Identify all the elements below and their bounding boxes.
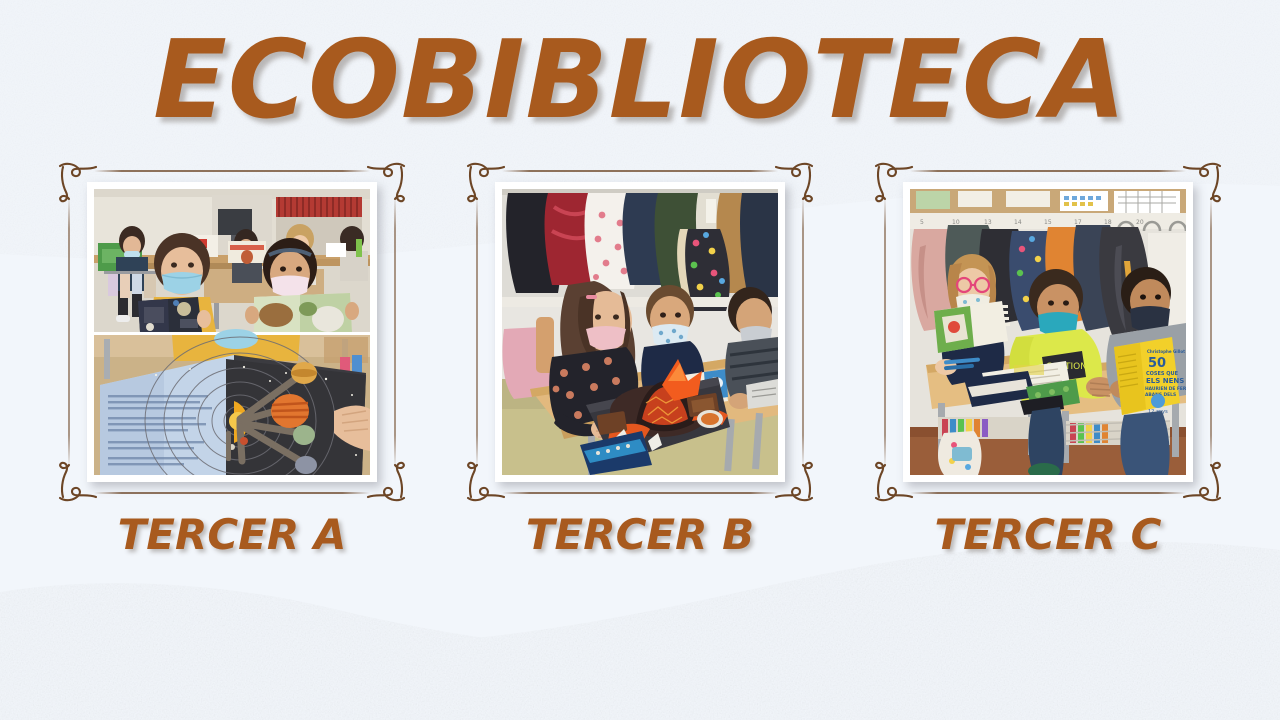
gallery-caption: TERCER B	[526, 510, 754, 559]
gallery-item-tercer-a[interactable]: TERCER A	[37, 162, 427, 559]
frame-rule-top	[94, 170, 370, 172]
svg-text:18: 18	[1104, 219, 1112, 226]
frame-rule-left	[884, 196, 886, 468]
photo-gallery: TERCER A	[0, 162, 1280, 559]
svg-text:14: 14	[1014, 219, 1022, 226]
frame-rule-left	[476, 196, 478, 468]
frame-rule-top	[910, 170, 1186, 172]
svg-text:15: 15	[1044, 219, 1052, 226]
photo-matte[interactable]	[495, 182, 785, 482]
gallery-caption: TERCER A	[118, 510, 347, 559]
svg-text:13: 13	[984, 219, 992, 226]
svg-text:10: 10	[952, 219, 960, 226]
frame-rule-right	[1210, 196, 1212, 468]
photo-matte[interactable]: 51013 141517 1820	[903, 182, 1193, 482]
photo-matte[interactable]	[87, 182, 377, 482]
svg-text:ELS NENS: ELS NENS	[1146, 377, 1184, 385]
page-title: ECOBIBLIOTECA	[0, 18, 1280, 143]
frame-rule-left	[68, 196, 70, 468]
svg-text:HAURIEN DE FER: HAURIEN DE FER	[1145, 386, 1186, 392]
frame-rule-bottom	[502, 492, 778, 494]
gallery-caption: TERCER C	[935, 510, 1162, 559]
frame-rule-right	[802, 196, 804, 468]
frame-rule-top	[502, 170, 778, 172]
ornamental-photo-frame	[468, 162, 812, 502]
slide-canvas: ECOBIBLIOTECA	[0, 0, 1280, 720]
frame-rule-bottom	[910, 492, 1186, 494]
photo-tercer-c: 51013 141517 1820	[910, 189, 1186, 475]
frame-rule-right	[394, 196, 396, 468]
svg-text:Christophe Gillot: Christophe Gillot	[1147, 349, 1185, 354]
svg-text:5: 5	[920, 219, 924, 226]
frame-rule-bottom	[94, 492, 370, 494]
svg-text:20: 20	[1136, 219, 1144, 226]
gallery-item-tercer-c[interactable]: 51013 141517 1820	[853, 162, 1243, 559]
ornamental-photo-frame: 51013 141517 1820	[876, 162, 1220, 502]
svg-text:50: 50	[1148, 356, 1166, 371]
ornamental-photo-frame	[60, 162, 404, 502]
photo-tercer-b	[502, 189, 778, 475]
gallery-item-tercer-b[interactable]: TERCER B	[445, 162, 835, 559]
svg-text:17: 17	[1074, 219, 1082, 226]
photo-tercer-a	[94, 189, 370, 475]
